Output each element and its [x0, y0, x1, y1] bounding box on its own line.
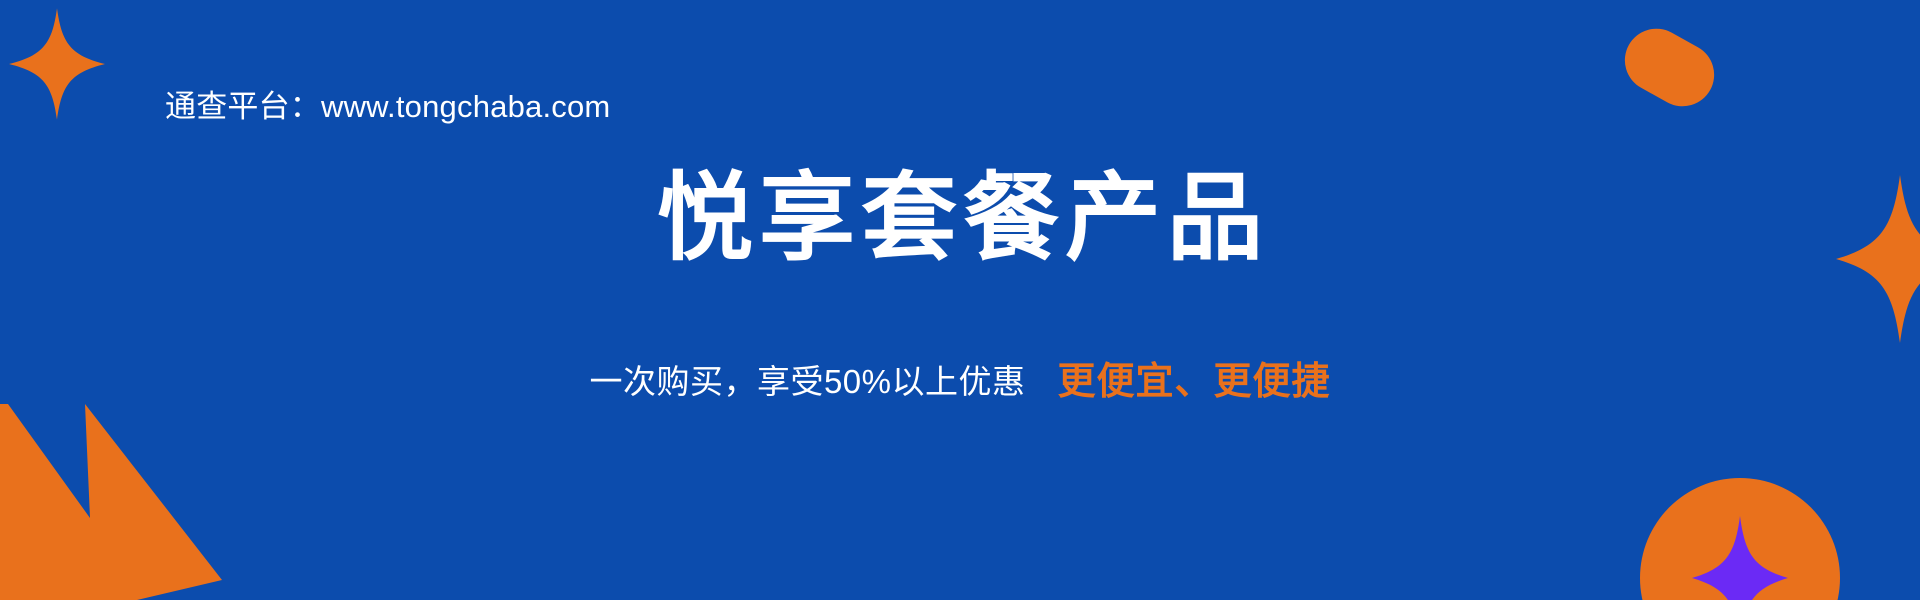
- subline-accent-text: 更便宜、更便捷: [1058, 361, 1331, 403]
- banner-subline: 一次购买，享受50%以上优惠更便宜、更便捷: [0, 355, 1920, 409]
- promo-banner: 通查平台：www.tongchaba.com 悦享套餐产品 一次购买，享受50%…: [0, 0, 1920, 600]
- platform-url-line: 通查平台：www.tongchaba.com: [165, 85, 610, 129]
- banner-content: 通查平台：www.tongchaba.com 悦享套餐产品 一次购买，享受50%…: [0, 0, 1920, 600]
- platform-url[interactable]: www.tongchaba.com: [321, 89, 610, 124]
- banner-headline: 悦享套餐产品: [0, 166, 1920, 272]
- subline-plain-text: 一次购买，享受50%以上优惠: [589, 363, 1025, 400]
- platform-label: 通查平台：: [165, 89, 321, 124]
